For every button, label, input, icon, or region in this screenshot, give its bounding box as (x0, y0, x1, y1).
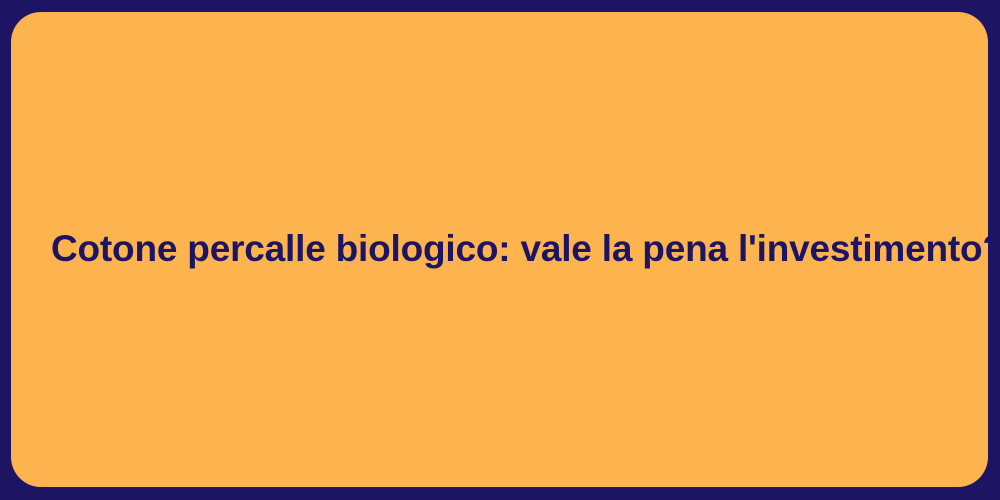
card-content: Cotone percalle biologico: vale la pena … (11, 226, 988, 272)
title-card: Cotone percalle biologico: vale la pena … (11, 12, 988, 487)
page-frame: Cotone percalle biologico: vale la pena … (0, 0, 1000, 500)
page-title: Cotone percalle biologico: vale la pena … (51, 226, 948, 272)
